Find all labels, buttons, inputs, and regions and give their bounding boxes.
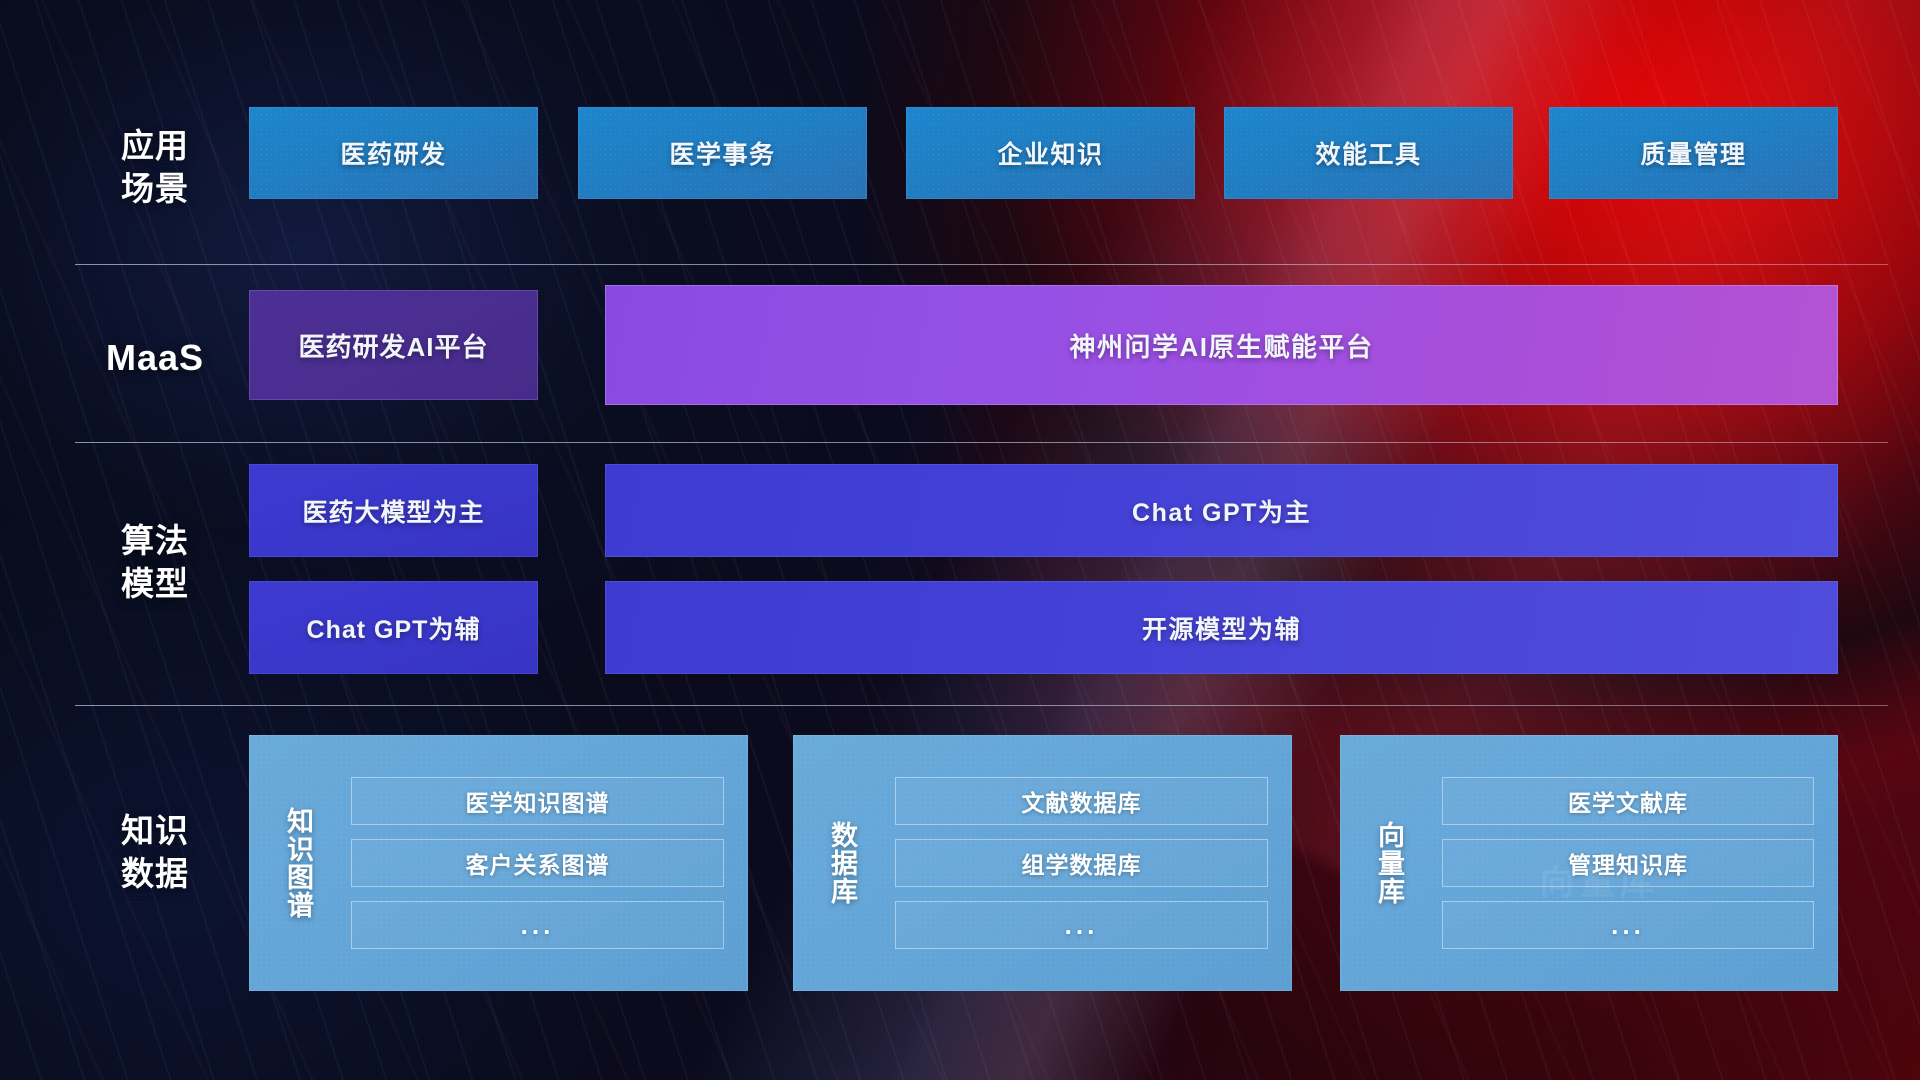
- section-divider-2: [75, 442, 1888, 443]
- knowledge-item-more[interactable]: ...: [351, 901, 724, 949]
- row-label-application-scenario: 应用 场景: [75, 125, 235, 211]
- row-label-line-1: 算法: [75, 520, 235, 563]
- app-scenario-card-2[interactable]: 医学事务: [578, 107, 867, 199]
- knowledge-panel-vector[interactable]: 向量库 医学文献库 管理知识库 ...: [1340, 735, 1838, 991]
- maas-platform-card-shenzhou[interactable]: 神州问学AI原生赋能平台: [605, 285, 1838, 405]
- knowledge-item[interactable]: 客户关系图谱: [351, 839, 724, 887]
- app-scenario-card-3[interactable]: 企业知识: [906, 107, 1195, 199]
- app-scenario-card-1[interactable]: 医药研发: [249, 107, 538, 199]
- row-label-knowledge-data: 知识 数据: [75, 810, 235, 896]
- algorithm-card-wide-2[interactable]: 开源模型为辅: [605, 581, 1838, 674]
- knowledge-panel-graph[interactable]: 知识图谱 医学知识图谱 客户关系图谱 ...: [249, 735, 748, 991]
- app-scenario-card-4[interactable]: 效能工具: [1224, 107, 1513, 199]
- knowledge-item[interactable]: 医学知识图谱: [351, 777, 724, 825]
- row-label-algorithm-model: 算法 模型: [75, 520, 235, 606]
- knowledge-item[interactable]: 医学文献库: [1442, 777, 1814, 825]
- knowledge-item-list: 文献数据库 组学数据库 ...: [889, 735, 1292, 991]
- knowledge-item[interactable]: 文献数据库: [895, 777, 1268, 825]
- knowledge-item[interactable]: 组学数据库: [895, 839, 1268, 887]
- knowledge-item-list: 医学文献库 管理知识库 ...: [1436, 735, 1838, 991]
- section-divider-3: [75, 705, 1888, 706]
- maas-platform-card-medical[interactable]: 医药研发AI平台: [249, 290, 538, 400]
- row-label-line-2: 场景: [75, 168, 235, 211]
- knowledge-panel-title: 知识图谱: [249, 735, 345, 991]
- knowledge-item-list: 医学知识图谱 客户关系图谱 ...: [345, 735, 748, 991]
- section-divider-1: [75, 264, 1888, 265]
- app-scenario-card-5[interactable]: 质量管理: [1549, 107, 1838, 199]
- knowledge-panel-title: 向量库: [1340, 735, 1436, 991]
- row-label-line-2: 数据: [75, 853, 235, 896]
- knowledge-panel-database[interactable]: 数据库 文献数据库 组学数据库 ...: [793, 735, 1292, 991]
- row-label-line-2: 模型: [75, 563, 235, 606]
- algorithm-card-small-1[interactable]: 医药大模型为主: [249, 464, 538, 557]
- row-label-line-1: 应用: [75, 125, 235, 168]
- algorithm-card-small-2[interactable]: Chat GPT为辅: [249, 581, 538, 674]
- row-label-maas: MaaS: [75, 335, 235, 382]
- diagram-canvas: 应用 场景 医药研发 医学事务 企业知识 效能工具 质量管理 MaaS 医药研发…: [0, 0, 1920, 1080]
- knowledge-panel-title: 数据库: [793, 735, 889, 991]
- row-label-line-1: 知识: [75, 810, 235, 853]
- algorithm-card-wide-1[interactable]: Chat GPT为主: [605, 464, 1838, 557]
- knowledge-item-more[interactable]: ...: [1442, 901, 1814, 949]
- knowledge-item-more[interactable]: ...: [895, 901, 1268, 949]
- knowledge-item[interactable]: 管理知识库: [1442, 839, 1814, 887]
